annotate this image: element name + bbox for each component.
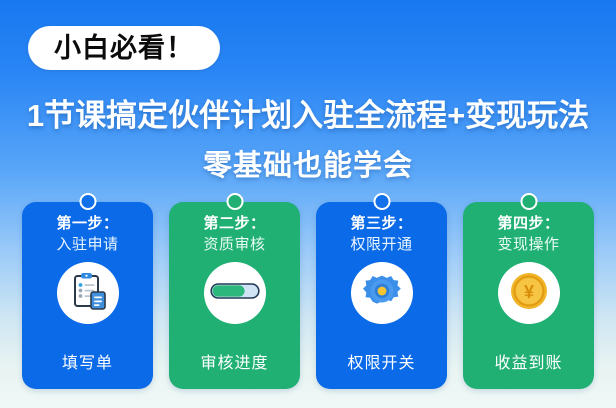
- gear-settings-icon: [360, 269, 404, 318]
- progress-bar-icon: [210, 280, 260, 307]
- step-icon-container-3: [351, 262, 413, 324]
- yen-coin-icon: ¥: [508, 270, 550, 317]
- step-topic-3: 权限开通: [350, 237, 412, 254]
- step-marker-dot-1: [79, 193, 96, 210]
- highlight-badge: 小白必看！: [28, 26, 220, 70]
- step-topic-1: 入驻申请: [56, 237, 118, 254]
- poster-subheadline: 零基础也能学会: [0, 142, 616, 184]
- step-card-1[interactable]: 第一步： 入驻申请: [22, 202, 153, 389]
- highlight-badge-label: 小白必看！: [54, 35, 194, 62]
- step-card-3[interactable]: 第三步： 权限开通 权限开关: [316, 202, 447, 389]
- step-marker-dot-3: [373, 193, 390, 210]
- step-label-1: 第一步：: [56, 216, 118, 233]
- step-card-list: 第一步： 入驻申请: [0, 202, 616, 396]
- step-label-4: 第四步：: [497, 216, 559, 233]
- step-icon-container-4: ¥: [498, 262, 560, 324]
- step-caption-2: 审核进度: [169, 349, 300, 373]
- step-card-2[interactable]: 第二步： 资质审核 审核进度: [169, 202, 300, 389]
- step-topic-4: 变现操作: [497, 237, 559, 254]
- step-caption-3: 权限开关: [316, 349, 447, 373]
- step-marker-dot-2: [226, 193, 243, 210]
- step-topic-2: 资质审核: [203, 237, 265, 254]
- step-caption-1: 填写单: [22, 349, 153, 373]
- step-label-2: 第二步：: [203, 216, 265, 233]
- step-icon-container-1: [57, 262, 119, 324]
- coin-symbol: ¥: [523, 282, 533, 302]
- step-caption-4: 收益到账: [463, 349, 594, 373]
- promo-poster: 小白必看！ 1节课搞定伙伴计划入驻全流程+变现玩法 零基础也能学会 第一步： 入…: [0, 0, 616, 408]
- step-card-4[interactable]: 第四步： 变现操作 ¥ 收益到账: [463, 202, 594, 389]
- step-icon-container-2: [204, 262, 266, 324]
- clipboard-checklist-icon: [66, 269, 110, 318]
- step-marker-dot-4: [520, 193, 537, 210]
- poster-headline: 1节课搞定伙伴计划入驻全流程+变现玩法: [0, 90, 616, 135]
- step-label-3: 第三步：: [350, 216, 412, 233]
